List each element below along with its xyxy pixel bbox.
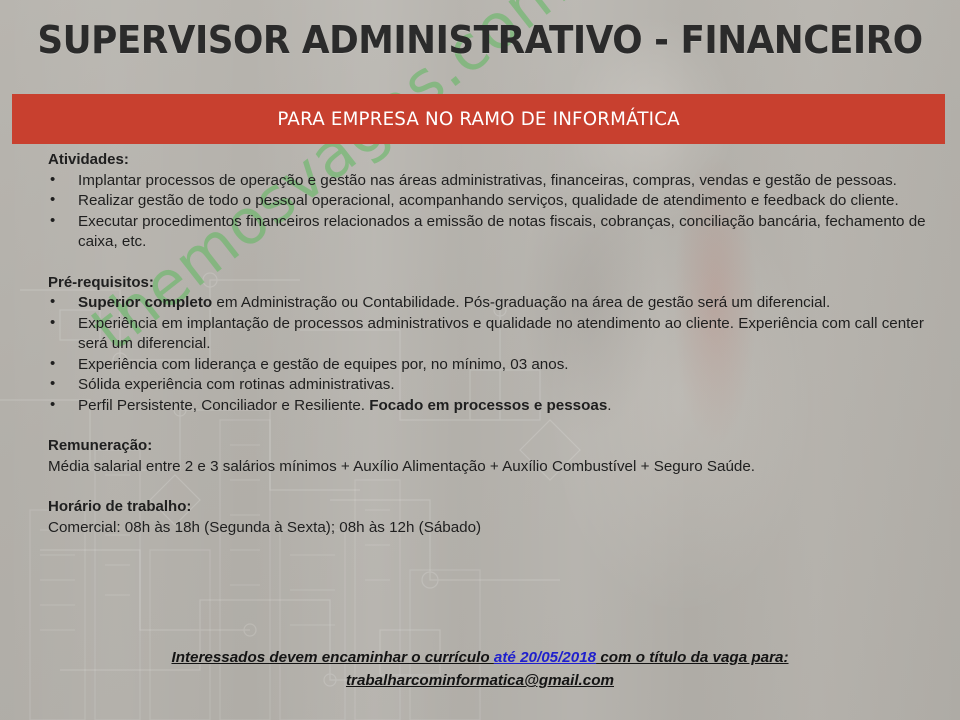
requirement-tail: . (607, 397, 611, 414)
list-item: Experiência com liderança e gestão de eq… (48, 355, 960, 376)
list-item: Realizar gestão de todo o pessoal operac… (48, 191, 960, 212)
subtitle-banner: PARA EMPRESA NO RAMO DE INFORMÁTICA (12, 94, 945, 144)
activities-heading: Atividades: (48, 150, 960, 171)
list-item: Implantar processos de operação e gestão… (48, 171, 960, 192)
list-item: Executar procedimentos financeiros relac… (48, 212, 960, 253)
application-instructions: Interessados devem encaminhar o currícul… (0, 646, 960, 692)
page-title: SUPERVISOR ADMINISTRATIVO - FINANCEIRO (29, 18, 931, 62)
spacer (0, 416, 960, 436)
requirement-emphasis: Superior completo (78, 294, 212, 311)
schedule-heading: Horário de trabalho: (48, 497, 960, 518)
list-item: Perfil Persistente, Conciliador e Resili… (48, 396, 960, 417)
subtitle-banner-text: PARA EMPRESA NO RAMO DE INFORMÁTICA (277, 108, 679, 130)
spacer (0, 477, 960, 497)
application-deadline: até 20/05/2018 (494, 649, 596, 666)
remuneration-text: Média salarial entre 2 e 3 salários míni… (48, 457, 960, 478)
job-poster: themosvagas.com.br SUPERVISOR ADMINISTRA… (0, 0, 960, 720)
footer-trail-text: com o título da vaga para: (596, 649, 788, 666)
requirement-text: Sólida experiência com rotinas administr… (78, 376, 395, 393)
schedule-text: Comercial: 08h às 18h (Segunda à Sexta);… (48, 518, 960, 539)
requirement-text: Experiência em implantação de processos … (78, 315, 924, 353)
poster-content: Atividades: Implantar processos de opera… (0, 150, 960, 538)
activities-list: Implantar processos de operação e gestão… (0, 171, 960, 253)
list-item: Experiência em implantação de processos … (48, 314, 960, 355)
spacer (0, 253, 960, 273)
requirements-heading: Pré-requisitos: (48, 273, 960, 294)
requirement-emphasis: Focado em processos e pessoas (369, 397, 607, 414)
contact-email[interactable]: trabalharcominformatica@gmail.com (0, 669, 960, 692)
requirement-text: Perfil Persistente, Conciliador e Resili… (78, 397, 369, 414)
list-item: Sólida experiência com rotinas administr… (48, 375, 960, 396)
remuneration-heading: Remuneração: (48, 436, 960, 457)
requirements-list: Superior completo em Administração ou Co… (0, 293, 960, 416)
footer-lead-text: Interessados devem encaminhar o currícul… (171, 649, 493, 666)
list-item: Superior completo em Administração ou Co… (48, 293, 960, 314)
requirement-text: em Administração ou Contabilidade. Pós-g… (212, 294, 830, 311)
requirement-text: Experiência com liderança e gestão de eq… (78, 356, 569, 373)
